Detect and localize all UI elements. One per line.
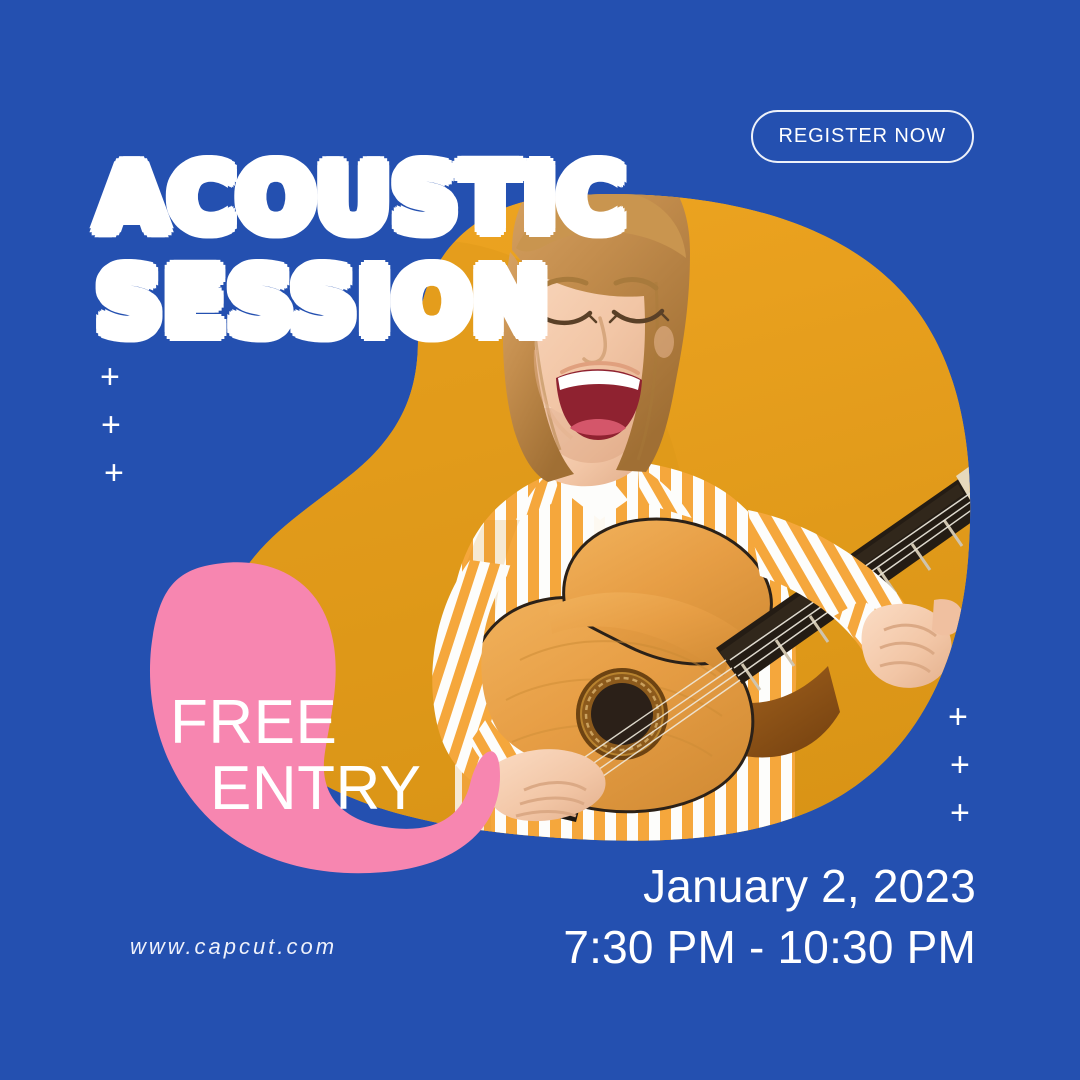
headline-line-2: SESSION	[96, 258, 626, 348]
headline-line-1: ACOUSTIC	[96, 154, 626, 244]
register-now-button[interactable]: REGISTER NOW	[751, 110, 974, 163]
website-url: www.capcut.com	[130, 934, 337, 960]
plus-icon-left-3: +	[104, 456, 124, 490]
event-time: 7:30 PM - 10:30 PM	[563, 919, 976, 977]
plus-icon-left-1: +	[100, 360, 120, 394]
free-entry-badge: FREE ENTRY	[168, 690, 422, 821]
free-entry-line-1: FREE	[168, 690, 422, 756]
event-date: January 2, 2023	[563, 859, 976, 914]
plus-icon-left-2: +	[101, 408, 121, 442]
plus-icon-right-2: +	[950, 748, 970, 782]
free-entry-line-2: ENTRY	[168, 756, 422, 822]
poster-canvas: ACOUSTIC SESSION REGISTER NOW FREE ENTRY…	[0, 0, 1080, 1080]
plus-icon-right-3: +	[950, 796, 970, 830]
plus-icon-right-1: +	[948, 700, 968, 734]
event-datetime: January 2, 2023 7:30 PM - 10:30 PM	[563, 859, 976, 976]
page-title: ACOUSTIC SESSION	[96, 154, 626, 348]
